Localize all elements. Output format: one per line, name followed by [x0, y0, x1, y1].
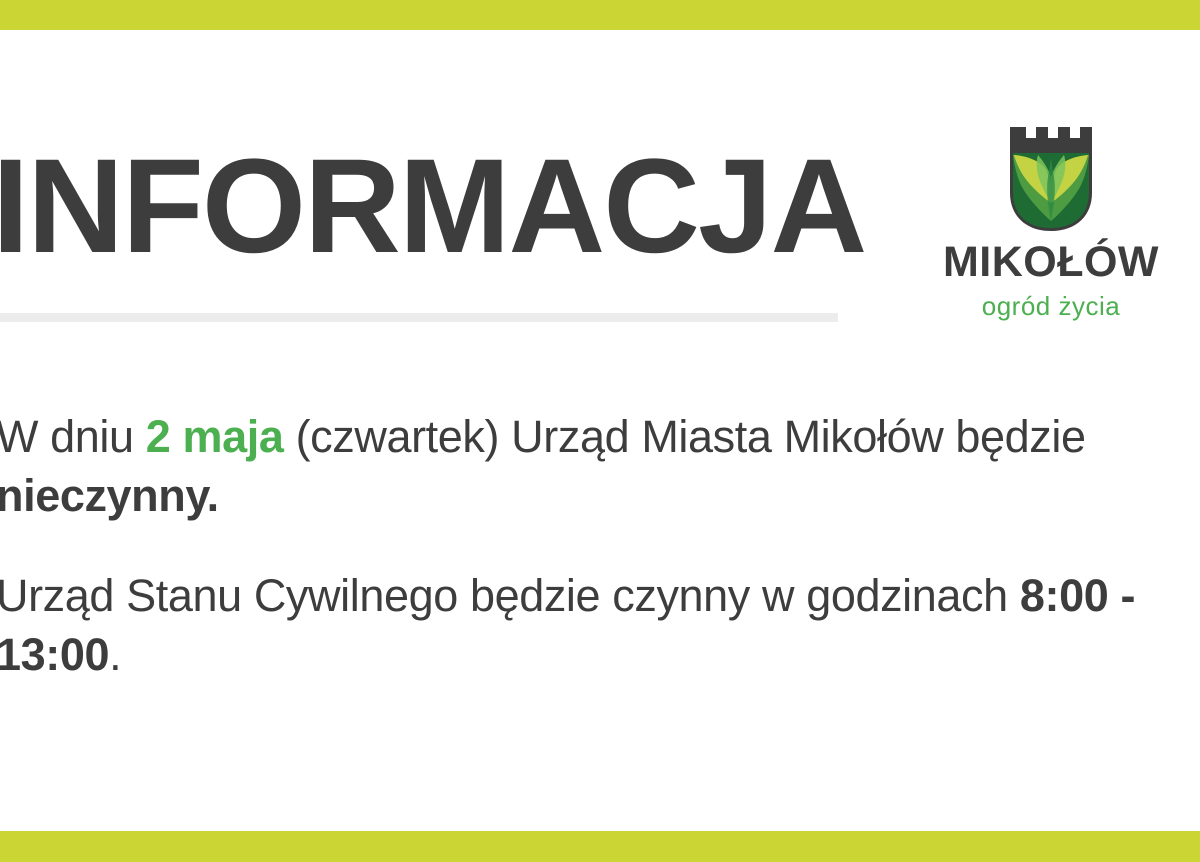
logo-tagline: ogród życia [920, 293, 1182, 319]
text-run-bold-3: nieczynny. [0, 470, 219, 521]
text-run-green-bold-1: 2 maja [146, 411, 284, 462]
logo-wordmark: MIKOŁÓW [920, 241, 1182, 284]
paragraph-registry-office-hours: Urząd Stanu Cywilnego będzie czynny w go… [0, 567, 1200, 684]
shield-crest-icon [1008, 125, 1094, 233]
logo-emblem-wrap [920, 125, 1182, 233]
top-accent-bar [0, 0, 1200, 30]
text-run-normal-2: . [109, 629, 121, 680]
text-run-normal-0: W dniu [0, 411, 146, 462]
notice-poster: INFORMACJA [0, 0, 1200, 862]
text-run-normal-2: (czwartek) Urząd Miasta Mikołów będzie [283, 411, 1097, 462]
body-copy: W dniu 2 maja (czwartek) Urząd Miasta Mi… [0, 408, 1200, 684]
text-run-normal-0: Urząd Stanu Cywilnego będzie czynny w go… [0, 570, 1020, 621]
bottom-accent-bar [0, 831, 1200, 862]
title-underline-rule [0, 313, 838, 322]
mikolow-logo: MIKOŁÓW ogród życia [920, 125, 1182, 319]
page-title: INFORMACJA [0, 140, 860, 274]
heading-block: INFORMACJA [0, 140, 860, 274]
paragraph-closure-notice: W dniu 2 maja (czwartek) Urząd Miasta Mi… [0, 408, 1200, 525]
